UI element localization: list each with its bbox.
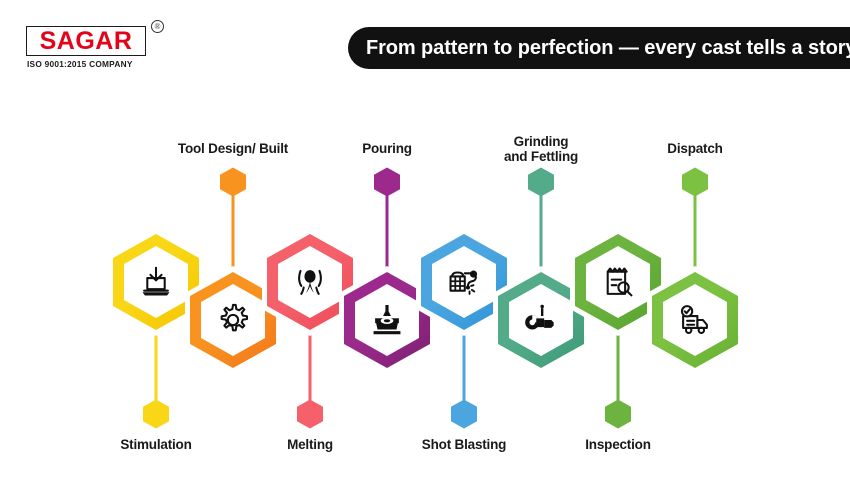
step-label: Shot Blasting [422, 437, 506, 452]
step-marker-hexagon [451, 400, 477, 429]
step-marker-hexagon [682, 168, 708, 197]
step-marker-hexagon [220, 168, 246, 197]
step-label: Tool Design/ Built [178, 141, 288, 156]
step-label: Melting [287, 437, 333, 452]
step-label: Inspection [585, 437, 651, 452]
step-hexagon[interactable] [647, 266, 743, 374]
step-marker-hexagon [605, 400, 631, 429]
step-marker-hexagon [528, 168, 554, 197]
step-label: Pouring [362, 141, 412, 156]
process-flow-diagram: Stimulation Tool Design/ Built Melting P… [0, 0, 850, 480]
step-label: Grinding and Fettling [504, 134, 578, 164]
step-label: Stimulation [120, 437, 191, 452]
step-marker-hexagon [374, 168, 400, 197]
step-marker-hexagon [143, 400, 169, 429]
step-marker-hexagon [297, 400, 323, 429]
infographic-canvas: SAGAR ® ISO 9001:2015 COMPANY From patte… [0, 0, 850, 480]
step-label: Dispatch [667, 141, 722, 156]
